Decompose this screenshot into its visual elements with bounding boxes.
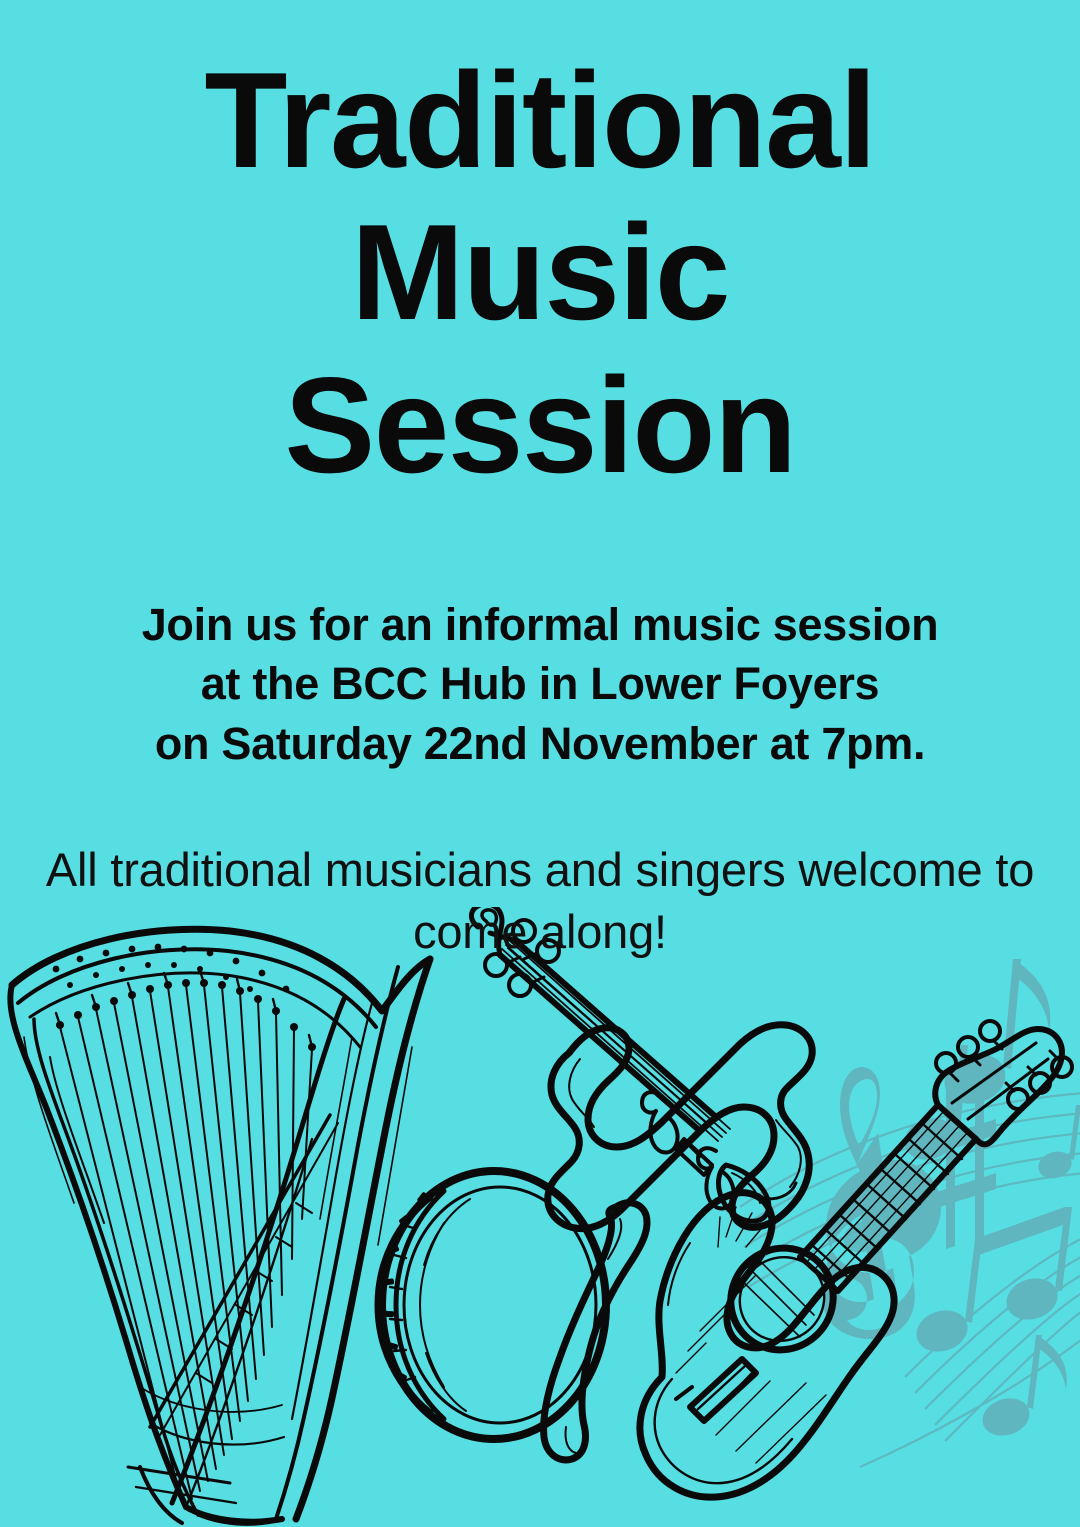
harp-illustration	[10, 929, 430, 1524]
event-detail-line-1: Join us for an informal music session	[60, 595, 1020, 654]
page-title: Traditional Music Session	[0, 0, 1080, 501]
instruments-layer	[0, 907, 1080, 1527]
welcome-line-1: All traditional musicians and singers we…	[18, 839, 1062, 901]
welcome-line-2: come along!	[18, 901, 1062, 963]
welcome-message: All traditional musicians and singers we…	[0, 839, 1080, 963]
poster-text-layer: Traditional Music Session Join us for an…	[0, 0, 1080, 963]
title-line-1: Traditional Music	[16, 44, 1064, 349]
event-detail-line-2: at the BCC Hub in Lower Foyers	[60, 654, 1020, 713]
event-details: Join us for an informal music session at…	[0, 595, 1080, 773]
title-line-2: Session	[16, 349, 1064, 501]
bodhran-drum-illustration	[378, 1171, 647, 1460]
poster-canvas: Traditional Music Session Join us for an…	[0, 0, 1080, 1527]
event-detail-line-3: on Saturday 22nd November at 7pm.	[60, 714, 1020, 773]
